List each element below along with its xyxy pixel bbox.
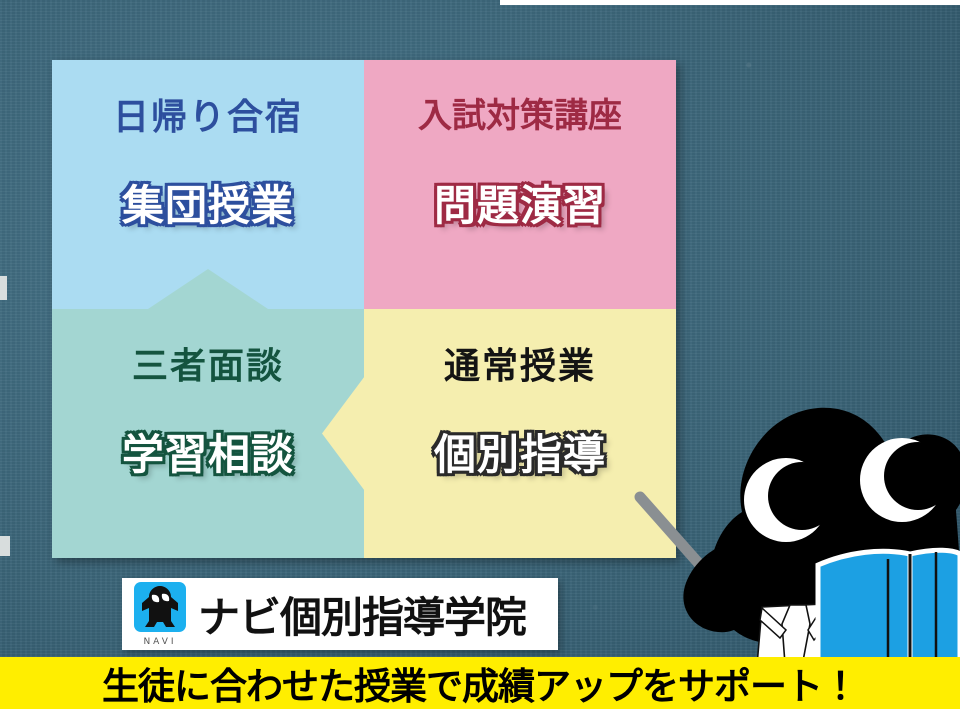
quadrant-interview[interactable]: 三者面談 学習相談	[52, 309, 364, 558]
quadrant-heading-day-camp: 日帰り合宿	[52, 88, 364, 140]
quadrant-heading-exam-prep: 入試対策講座	[364, 88, 676, 137]
brand-name-text: ナビ個別指導学院	[198, 584, 526, 645]
quadrant-tag-day-camp: 集団授業	[52, 172, 364, 233]
top-white-strip	[500, 0, 960, 5]
navi-logo-mark-icon: NAVI	[132, 581, 190, 647]
tagline-text: 生徒に合わせた授業で成績アップをサポート！	[102, 656, 858, 710]
svg-text:NAVI: NAVI	[143, 637, 176, 647]
quadrant-heading-interview: 三者面談	[52, 337, 364, 389]
quadrant-tag-exam-prep: 問題演習	[364, 172, 676, 233]
bottom-strip	[0, 709, 960, 723]
brand-logo-bar[interactable]: NAVI ナビ個別指導学院	[122, 578, 558, 650]
tagline-banner: 生徒に合わせた授業で成績アップをサポート！	[0, 657, 960, 709]
service-quadrant-panel: 日帰り合宿 集団授業 入試対策講座 問題演習 三者面談 学習相談 通常授業 個別…	[52, 60, 676, 558]
left-notch-upper	[0, 276, 7, 300]
left-notch-lower	[0, 536, 10, 556]
quadrant-exam-prep[interactable]: 入試対策講座 問題演習	[364, 60, 676, 309]
navi-mascot-teacher	[610, 392, 960, 677]
quadrant-heading-regular-lesson: 通常授業	[364, 337, 676, 389]
slide-stage: 日帰り合宿 集団授業 入試対策講座 問題演習 三者面談 学習相談 通常授業 個別…	[0, 0, 960, 723]
quadrant-tag-interview: 学習相談	[52, 421, 364, 482]
